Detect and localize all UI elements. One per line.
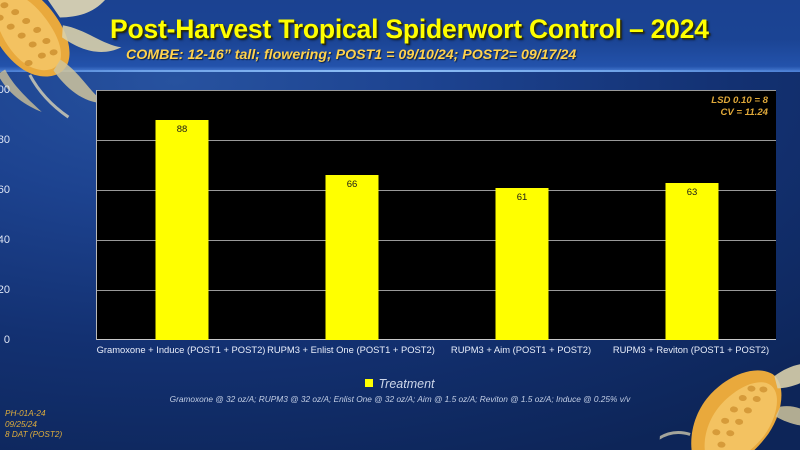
slide-title: Post-Harvest Tropical Spiderwort Control… [110, 14, 790, 45]
trial-date: 09/25/24 [5, 420, 62, 431]
x-category-label-4: RUPM3 + Reviton (POST1 + POST2) [606, 344, 776, 356]
bar-series-treatment: 88666163 [97, 90, 776, 340]
bar-value-label: 61 [496, 192, 549, 203]
chart-plot-area: LSD 0.10 = 8 CV = 11.24 88666163 [96, 90, 776, 340]
trial-id: PH-01A-24 [5, 409, 62, 420]
bar-value-label: 66 [326, 179, 379, 190]
y-tick-40: 40 [0, 234, 10, 246]
slide-subtitle: COMBE: 12-16” tall; flowering; POST1 = 0… [126, 47, 800, 63]
y-tick-0: 0 [0, 334, 10, 346]
bar-treatment-4[interactable]: 63 [666, 183, 719, 341]
bar-value-label: 88 [156, 124, 209, 135]
x-category-label-1: Gramoxone + Induce (POST1 + POST2) [96, 344, 266, 356]
bar-slot: 61 [437, 90, 607, 340]
trial-stamp: PH-01A-24 09/25/24 8 DAT (POST2) [5, 409, 62, 441]
slide-canvas: Post-Harvest Tropical Spiderwort Control… [0, 0, 800, 450]
y-tick-60: 60 [0, 184, 10, 196]
chart-legend: Treatment [0, 377, 800, 391]
y-tick-100: 100 [0, 84, 10, 96]
bar-treatment-2[interactable]: 66 [326, 175, 379, 340]
header-divider [0, 70, 800, 72]
bar-slot: 88 [97, 90, 267, 340]
bar-value-label: 63 [666, 187, 719, 198]
legend-label-treatment: Treatment [378, 377, 434, 391]
x-category-label-3: RUPM3 + Aim (POST1 + POST2) [436, 344, 606, 356]
bar-treatment-1[interactable]: 88 [156, 120, 209, 340]
bar-treatment-3[interactable]: 61 [496, 188, 549, 341]
bar-slot: 63 [607, 90, 777, 340]
legend-swatch-treatment [365, 379, 373, 387]
y-tick-80: 80 [0, 134, 10, 146]
y-tick-20: 20 [0, 284, 10, 296]
trial-timing: 8 DAT (POST2) [5, 430, 62, 441]
treatment-rates-footnote: Gramoxone @ 32 oz/A; RUPM3 @ 32 oz/A; En… [0, 394, 800, 404]
x-category-label-2: RUPM3 + Enlist One (POST1 + POST2) [266, 344, 436, 356]
bar-slot: 66 [267, 90, 437, 340]
